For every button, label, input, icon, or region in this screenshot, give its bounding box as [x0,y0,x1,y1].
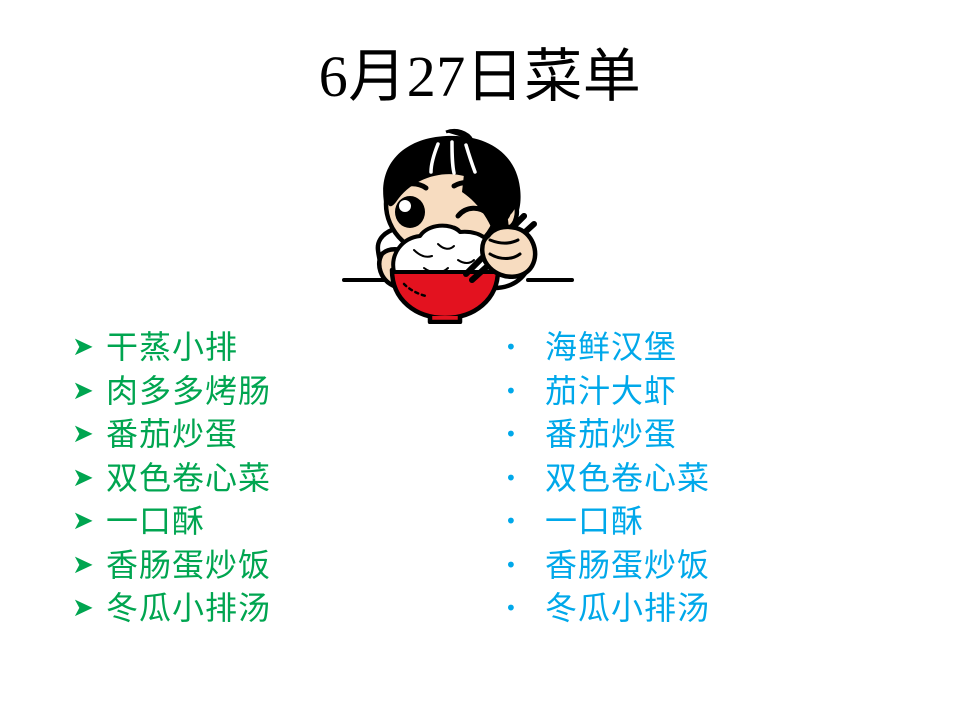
dot-bullet-icon: • [505,413,545,457]
menu-item[interactable]: • 茄汁大虾 [505,370,905,414]
dot-bullet-icon: • [505,544,545,588]
menu-item[interactable]: • 海鲜汉堡 [505,326,905,370]
menu-item[interactable]: ➤ 番茄炒蛋 [72,413,462,457]
menu-item[interactable]: ➤ 干蒸小排 [72,326,462,370]
menu-item-label: 番茄炒蛋 [106,413,238,457]
page-title: 6月27日菜单 [0,46,960,109]
menu-item[interactable]: ➤ 肉多多烤肠 [72,370,462,414]
arrow-bullet-icon: ➤ [72,457,106,501]
dot-bullet-icon: • [505,587,545,631]
eye-left [395,196,425,228]
hair-highlight-2 [452,142,454,173]
arrow-bullet-icon: ➤ [72,370,106,414]
menu-item-label: 干蒸小排 [106,326,238,370]
hand-right [482,227,535,277]
menu-item-label: 一口酥 [545,500,644,544]
menu-item-label: 香肠蛋炒饭 [545,544,710,588]
menu-item-label: 双色卷心菜 [545,457,710,501]
menu-item[interactable]: • 双色卷心菜 [505,457,905,501]
dot-bullet-icon: • [505,457,545,501]
menu-item[interactable]: ➤ 一口酥 [72,500,462,544]
arrow-bullet-icon: ➤ [72,500,106,544]
menu-item[interactable]: ➤ 香肠蛋炒饭 [72,544,462,588]
arrow-bullet-icon: ➤ [72,413,106,457]
bowl-foot [430,316,460,322]
arrow-bullet-icon: ➤ [72,587,106,631]
menu-item-label: 冬瓜小排汤 [106,587,271,631]
menu-item[interactable]: • 一口酥 [505,500,905,544]
menu-item-label: 双色卷心菜 [106,457,271,501]
arrow-bullet-icon: ➤ [72,544,106,588]
menu-item[interactable]: • 香肠蛋炒饭 [505,544,905,588]
menu-item[interactable]: • 番茄炒蛋 [505,413,905,457]
menu-item-label: 肉多多烤肠 [106,370,271,414]
menu-item-label: 番茄炒蛋 [545,413,677,457]
menu-item-label: 茄汁大虾 [545,370,677,414]
menu-item[interactable]: • 冬瓜小排汤 [505,587,905,631]
eye-left-highlight [399,200,411,212]
boy-eating-rice-illustration [338,128,578,324]
menu-item[interactable]: ➤ 双色卷心菜 [72,457,462,501]
dot-bullet-icon: • [505,370,545,414]
menu-item-label: 海鲜汉堡 [545,326,677,370]
menu-list-left: ➤ 干蒸小排 ➤ 肉多多烤肠 ➤ 番茄炒蛋 ➤ 双色卷心菜 ➤ 一口酥 ➤ 香肠… [72,326,462,631]
menu-item[interactable]: ➤ 冬瓜小排汤 [72,587,462,631]
rice-bowl [392,270,498,318]
dot-bullet-icon: • [505,326,545,370]
menu-item-label: 冬瓜小排汤 [545,587,710,631]
dot-bullet-icon: • [505,500,545,544]
arrow-bullet-icon: ➤ [72,326,106,370]
menu-list-right: • 海鲜汉堡 • 茄汁大虾 • 番茄炒蛋 • 双色卷心菜 • 一口酥 • 香肠蛋… [505,326,905,631]
menu-item-label: 香肠蛋炒饭 [106,544,271,588]
menu-item-label: 一口酥 [106,500,205,544]
